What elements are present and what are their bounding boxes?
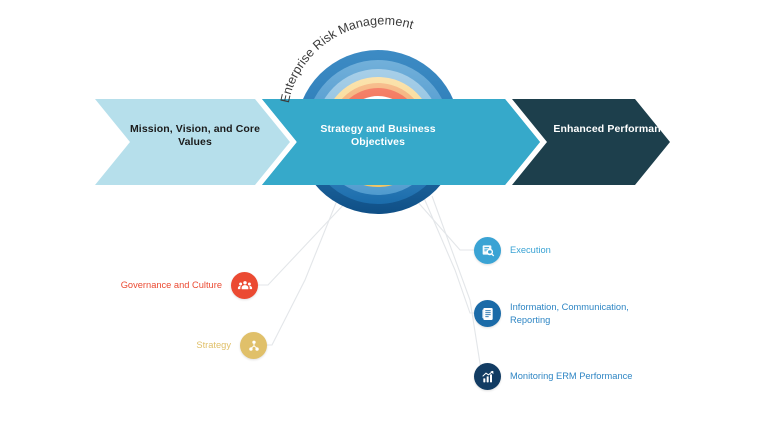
erm-diagram-canvas: Mission, Vision, and Core Values Strateg… [0, 0, 768, 432]
arc-title-text: Enterprise Risk Management [278, 13, 416, 104]
arc-title-layer: Enterprise Risk Management [0, 0, 768, 432]
